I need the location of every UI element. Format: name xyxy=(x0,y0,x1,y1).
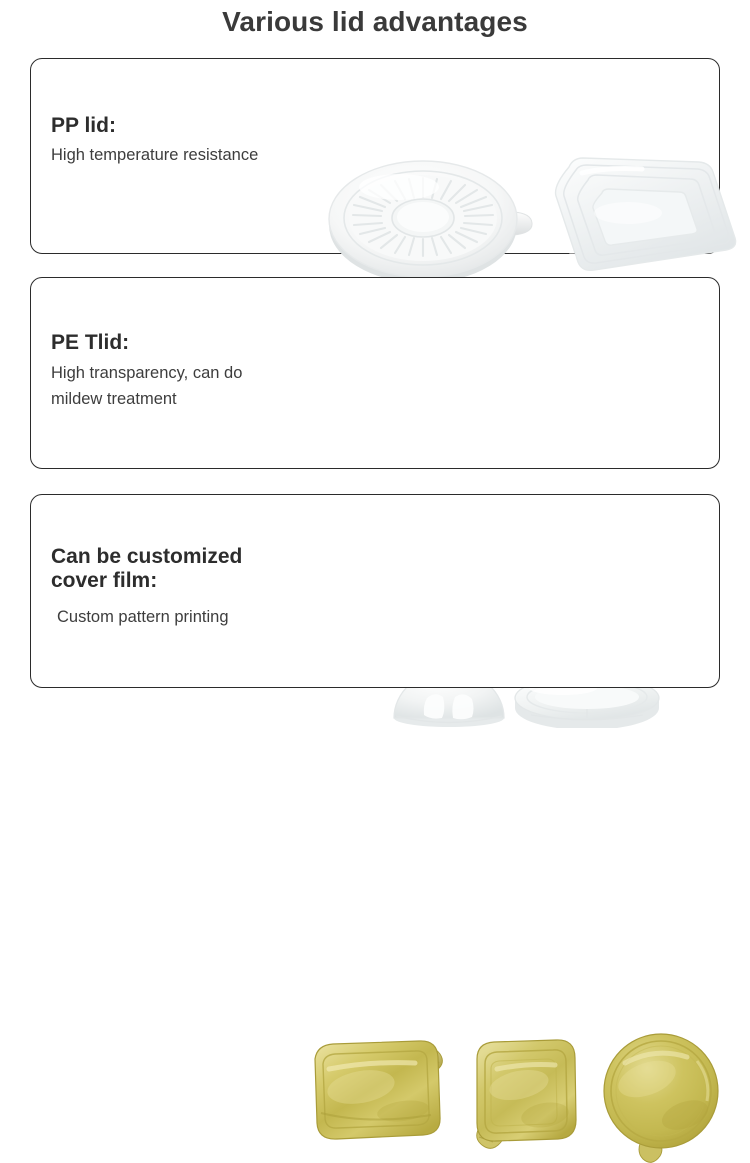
card-pe-description: High transparency, can do mildew treatme… xyxy=(51,361,242,412)
card-pp-lid: PP lid: High temperature resistance xyxy=(30,58,720,254)
card-pe-lid: PE Tlid: High transparency, can do milde… xyxy=(30,277,720,469)
card-pe-heading: PE Tlid: xyxy=(51,331,242,355)
card-film-description: Custom pattern printing xyxy=(51,605,242,631)
card-pe-text-block: PE Tlid: High transparency, can do milde… xyxy=(51,331,242,412)
page-title: Various lid advantages xyxy=(0,6,750,38)
rectangular-pp-lid-image xyxy=(536,147,741,287)
gold-round-cover-film-image xyxy=(593,1031,729,1163)
card-pp-text-block: PP lid: High temperature resistance xyxy=(51,114,258,169)
card-pp-description: High temperature resistance xyxy=(51,143,258,169)
round-ribbed-pp-lid-image xyxy=(327,151,539,286)
gold-rectangular-cover-film-image xyxy=(299,1035,451,1153)
card-pp-heading: PP lid: xyxy=(51,114,258,138)
card-film-text-block: Can be customized cover film: Custom pat… xyxy=(51,545,242,631)
card-cover-film: Can be customized cover film: Custom pat… xyxy=(30,494,720,688)
card-film-heading: Can be customized cover film: xyxy=(51,545,242,593)
gold-square-cover-film-image xyxy=(463,1033,591,1159)
